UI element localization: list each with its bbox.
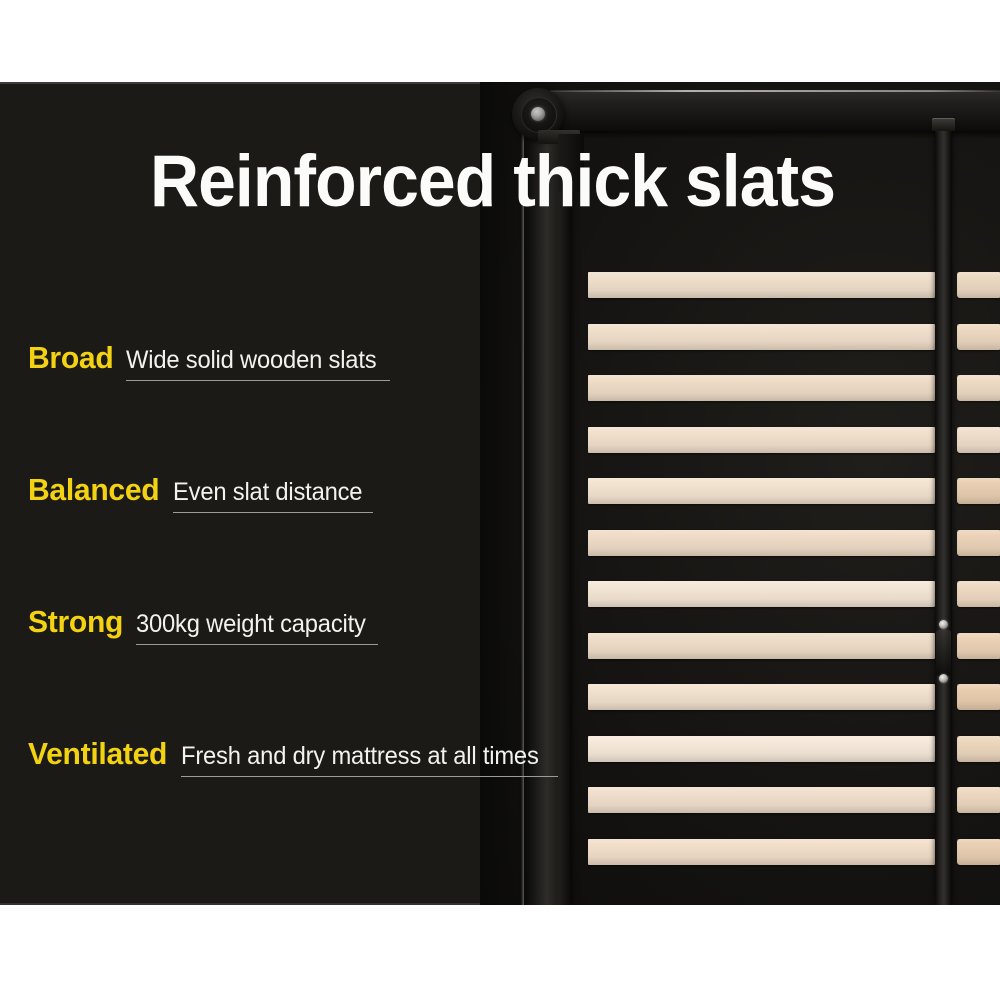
wooden-slat [588, 375, 935, 401]
slat-bay-left [588, 272, 935, 905]
center-rail-screw-lower [939, 674, 948, 683]
top-head-rail-shadow [550, 131, 1000, 139]
wooden-slat [588, 272, 935, 298]
feature-description: Wide solid wooden slats [126, 347, 376, 374]
feature-underline [126, 380, 390, 381]
center-support-rail-cap [932, 118, 955, 131]
center-support-bracket [936, 630, 951, 676]
wooden-slat [588, 581, 935, 607]
center-rail-screw-upper [939, 620, 948, 629]
feature-description-wrap: 300kg weight capacity [136, 611, 378, 645]
feature-description-wrap: Fresh and dry mattress at all times [181, 743, 557, 777]
wooden-slat [588, 787, 935, 813]
feature-keyword: Strong [28, 605, 123, 639]
wooden-slat [588, 478, 935, 504]
wooden-slat [957, 839, 1000, 865]
wooden-slat [588, 633, 935, 659]
wooden-slat [957, 581, 1000, 607]
feature-description: Fresh and dry mattress at all times [181, 743, 539, 770]
feature-description: Even slat distance [173, 479, 362, 506]
feature-keyword: Ventilated [28, 737, 167, 771]
screenshot-canvas: Reinforced thick slats Broad Wide solid … [0, 0, 1000, 1000]
wooden-slat [957, 427, 1000, 453]
feature-item-balanced: Balanced Even slat distance [28, 473, 373, 513]
wooden-slat [957, 375, 1000, 401]
feature-description: 300kg weight capacity [136, 611, 366, 638]
slat-bay-right [957, 272, 1000, 905]
feature-item-ventilated: Ventilated Fresh and dry mattress at all… [28, 737, 558, 777]
wooden-slat [588, 684, 935, 710]
wooden-slat [588, 736, 935, 762]
wooden-slat [588, 427, 935, 453]
feature-item-broad: Broad Wide solid wooden slats [28, 341, 390, 381]
feature-underline [136, 644, 378, 645]
wooden-slat [957, 530, 1000, 556]
feature-description-wrap: Even slat distance [173, 479, 372, 513]
wooden-slat [957, 684, 1000, 710]
product-feature-panel: Reinforced thick slats Broad Wide solid … [0, 82, 1000, 905]
top-head-rail-highlight [550, 90, 1000, 92]
feature-keyword: Broad [28, 341, 113, 375]
wooden-slat [957, 272, 1000, 298]
wooden-slat [588, 530, 935, 556]
wooden-slat [957, 736, 1000, 762]
feature-description-wrap: Wide solid wooden slats [126, 347, 390, 381]
wooden-slat [588, 324, 935, 350]
wooden-slat [957, 324, 1000, 350]
feature-list: Broad Wide solid wooden slats Balanced E… [0, 82, 560, 905]
wooden-slat [957, 787, 1000, 813]
feature-underline [181, 776, 557, 777]
wooden-slat [957, 633, 1000, 659]
wooden-slat [957, 478, 1000, 504]
wooden-slat [588, 839, 935, 865]
feature-item-strong: Strong 300kg weight capacity [28, 605, 378, 645]
feature-underline [173, 512, 372, 513]
center-support-rail [935, 124, 952, 905]
feature-keyword: Balanced [28, 473, 159, 507]
